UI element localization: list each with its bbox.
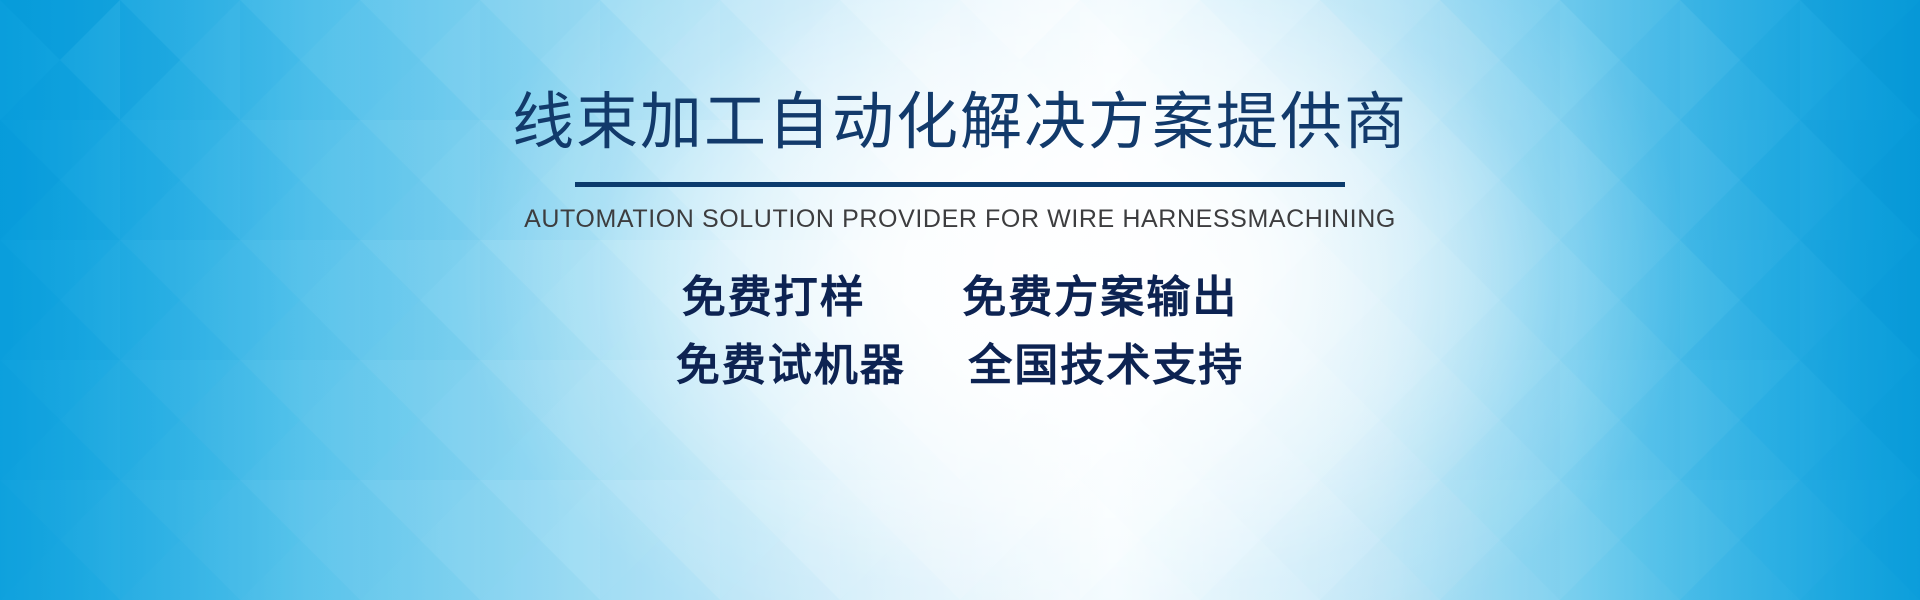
bullet-free-sample: 免费打样: [682, 273, 866, 322]
banner-bullets: 免费打样 免费方案输出 免费试机器 全国技术支持: [676, 264, 1244, 400]
headline-divider: [575, 182, 1345, 187]
bullet-line-2: 免费试机器 全国技术支持: [676, 332, 1244, 400]
banner-headline: 线束加工自动化解决方案提供商: [512, 92, 1408, 154]
bullet-free-solution: 免费方案输出: [962, 273, 1238, 322]
bullet-nationwide-support: 全国技术支持: [968, 341, 1244, 390]
bullet-free-trial: 免费试机器: [676, 341, 906, 390]
banner-content: 线束加工自动化解决方案提供商 AUTOMATION SOLUTION PROVI…: [0, 0, 1920, 600]
hero-banner: 线束加工自动化解决方案提供商 AUTOMATION SOLUTION PROVI…: [0, 0, 1920, 600]
banner-subheadline: AUTOMATION SOLUTION PROVIDER FOR WIRE HA…: [524, 205, 1396, 234]
bullet-line-1: 免费打样 免费方案输出: [676, 264, 1244, 332]
